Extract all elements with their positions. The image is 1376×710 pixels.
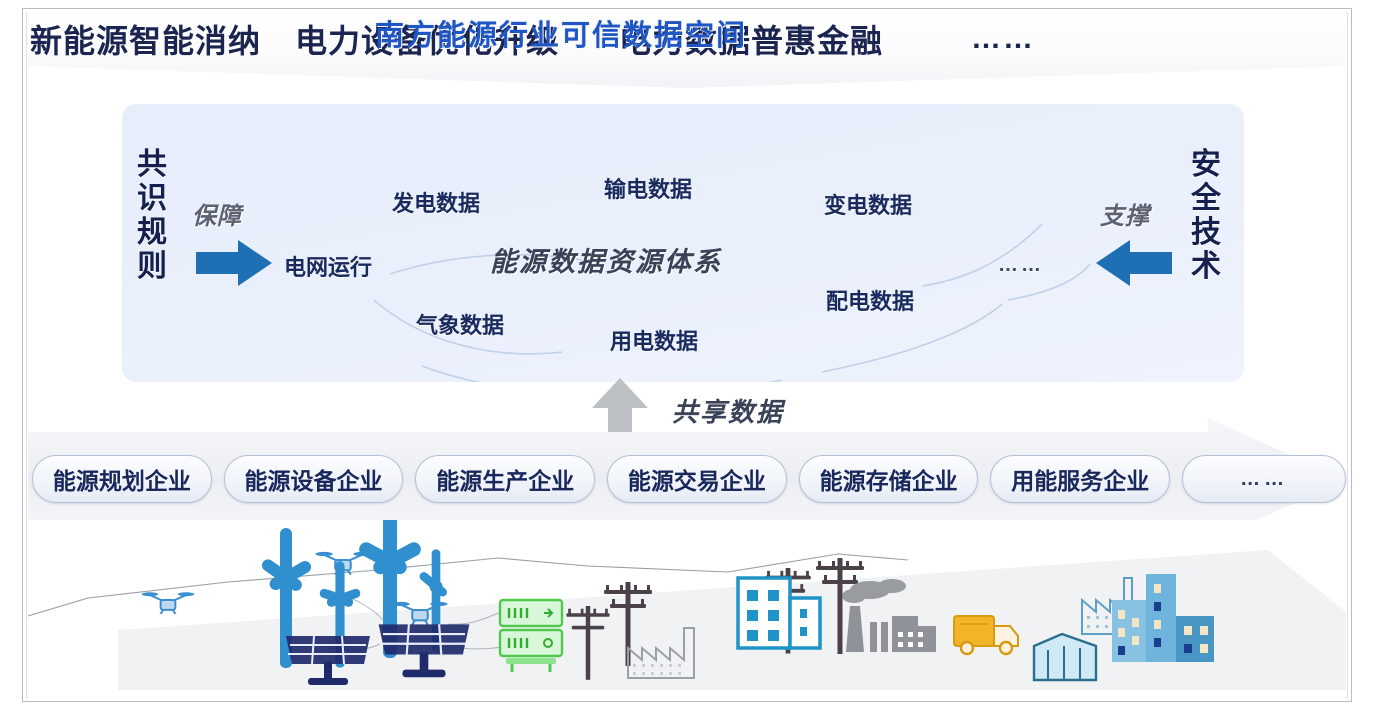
chip-energy-equipment[interactable]: 能源设备企业 [224,455,404,503]
node-ellipsis: …… [998,254,1044,277]
right-pillar-char-3: 术 [1186,250,1226,284]
node-generation-data: 发电数据 [392,186,480,218]
right-blue-arrow-icon [1096,240,1172,286]
node-distribution-data: 配电数据 [826,284,914,316]
drone-icon [142,592,194,614]
left-pillar-char-2: 规 [132,216,172,250]
node-transmission-data: 输电数据 [604,172,692,204]
node-consumption-data: 用电数据 [610,324,698,356]
node-grid-operation: 电网运行 [284,250,372,282]
right-pillar-char-2: 技 [1186,216,1226,250]
illustration-scene [28,520,1346,698]
chip-label: 能源规划企业 [53,462,191,496]
left-pillar-char-3: 则 [132,250,172,284]
enterprise-chip-list: 能源规划企业 能源设备企业 能源生产企业 能源交易企业 能源存储企业 用能服务企… [28,450,1346,508]
chip-label: 能源生产企业 [436,462,574,496]
chip-energy-trading[interactable]: 能源交易企业 [607,455,787,503]
chip-energy-planning[interactable]: 能源规划企业 [32,455,212,503]
node-weather-data: 气象数据 [416,308,504,340]
chip-label: 用能服务企业 [1011,462,1149,496]
left-blue-arrow-icon [196,240,272,286]
illustration-band [28,520,1346,698]
chip-ellipsis[interactable]: …… [1182,455,1346,503]
server-rack-icon [500,600,562,672]
chip-energy-production[interactable]: 能源生产企业 [415,455,595,503]
right-arrow-label-zhicheng: 支撑 [1100,196,1150,231]
right-pillar-security-tech: 安 全 技 术 [1186,148,1226,284]
chip-label: …… [1240,468,1288,491]
center-label-energy-data-resource-system: 能源数据资源体系 [490,240,722,279]
chip-energy-storage[interactable]: 能源存储企业 [799,455,979,503]
chip-label: 能源设备企业 [245,462,383,496]
right-pillar-char-1: 全 [1186,182,1226,216]
left-pillar-consensus-rules: 共 识 规 则 [132,148,172,284]
diagram-root: 新能源智能消纳 电力设备优化升级 电力数据普惠金融 …… 南方能源行业可信数据空… [0,0,1376,710]
right-pillar-char-0: 安 [1186,148,1226,182]
chip-label: 能源存储企业 [820,462,958,496]
chip-energy-service[interactable]: 用能服务企业 [990,455,1170,503]
node-substation-data: 变电数据 [824,188,912,220]
panel-title: 南方能源行业可信数据空间 [0,12,1122,54]
left-pillar-char-1: 识 [132,182,172,216]
left-arrow-label-baozhang: 保障 [192,196,242,231]
left-pillar-char-0: 共 [132,148,172,182]
chip-label: 能源交易企业 [628,462,766,496]
